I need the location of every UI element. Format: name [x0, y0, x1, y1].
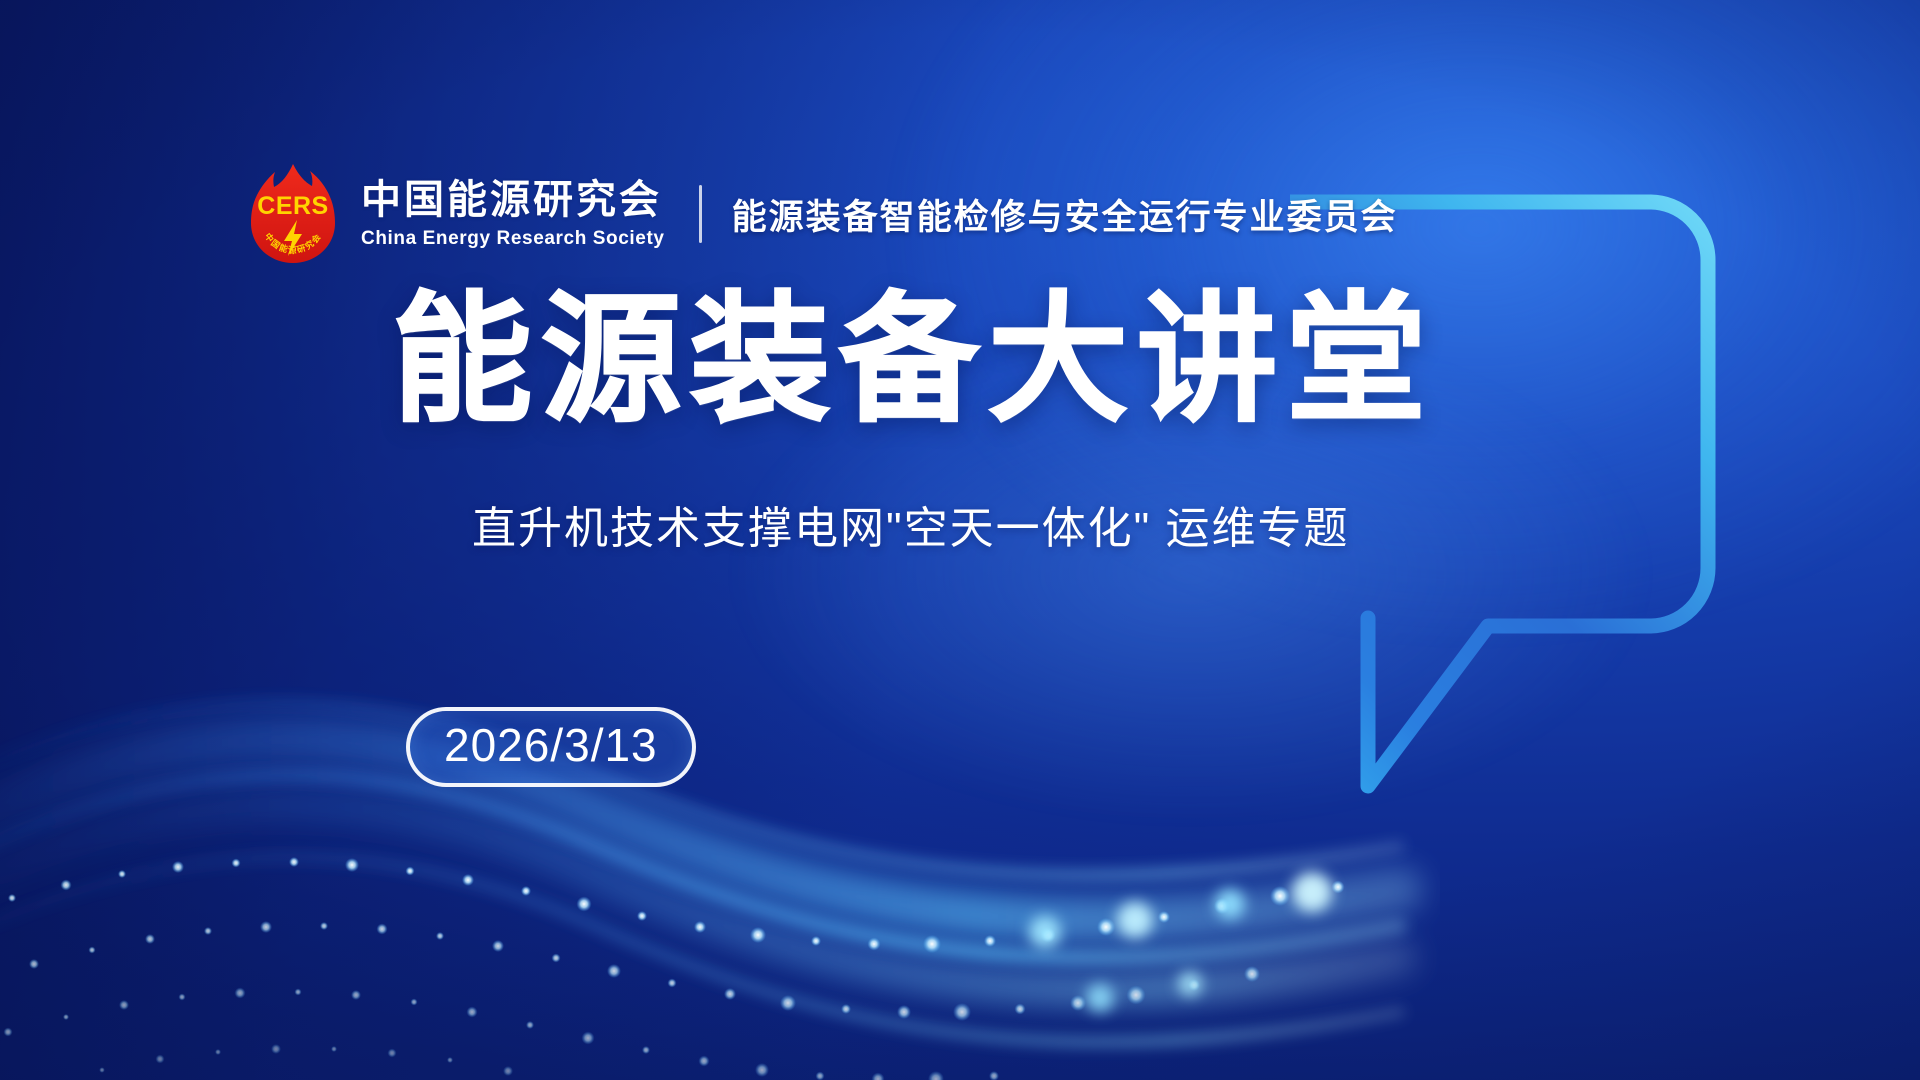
org-name-block: 中国能源研究会 China Energy Research Society: [361, 178, 665, 250]
page-title: 能源装备大讲堂: [392, 290, 1435, 430]
logo-badge-text: CERS: [257, 192, 328, 220]
org-name-cn: 中国能源研究会: [361, 178, 665, 223]
page-subtitle: 直升机技术支撑电网"空天一体化" 运维专题: [472, 492, 1349, 556]
vertical-divider-icon: [699, 185, 702, 243]
committee-name: 能源装备智能检修与安全运行专业委员会: [732, 189, 1398, 240]
header-row: CERS 中国能源研究会 中国能源研究会 China Energy Resear…: [243, 162, 1398, 266]
event-date-text: 2026/3/13: [444, 722, 658, 768]
poster-canvas: CERS 中国能源研究会 中国能源研究会 China Energy Resear…: [0, 0, 1920, 1080]
cers-flame-logo-icon: CERS 中国能源研究会: [243, 162, 343, 266]
event-date-badge: 2026/3/13: [406, 707, 696, 787]
org-name-en: China Energy Research Society: [361, 228, 665, 250]
